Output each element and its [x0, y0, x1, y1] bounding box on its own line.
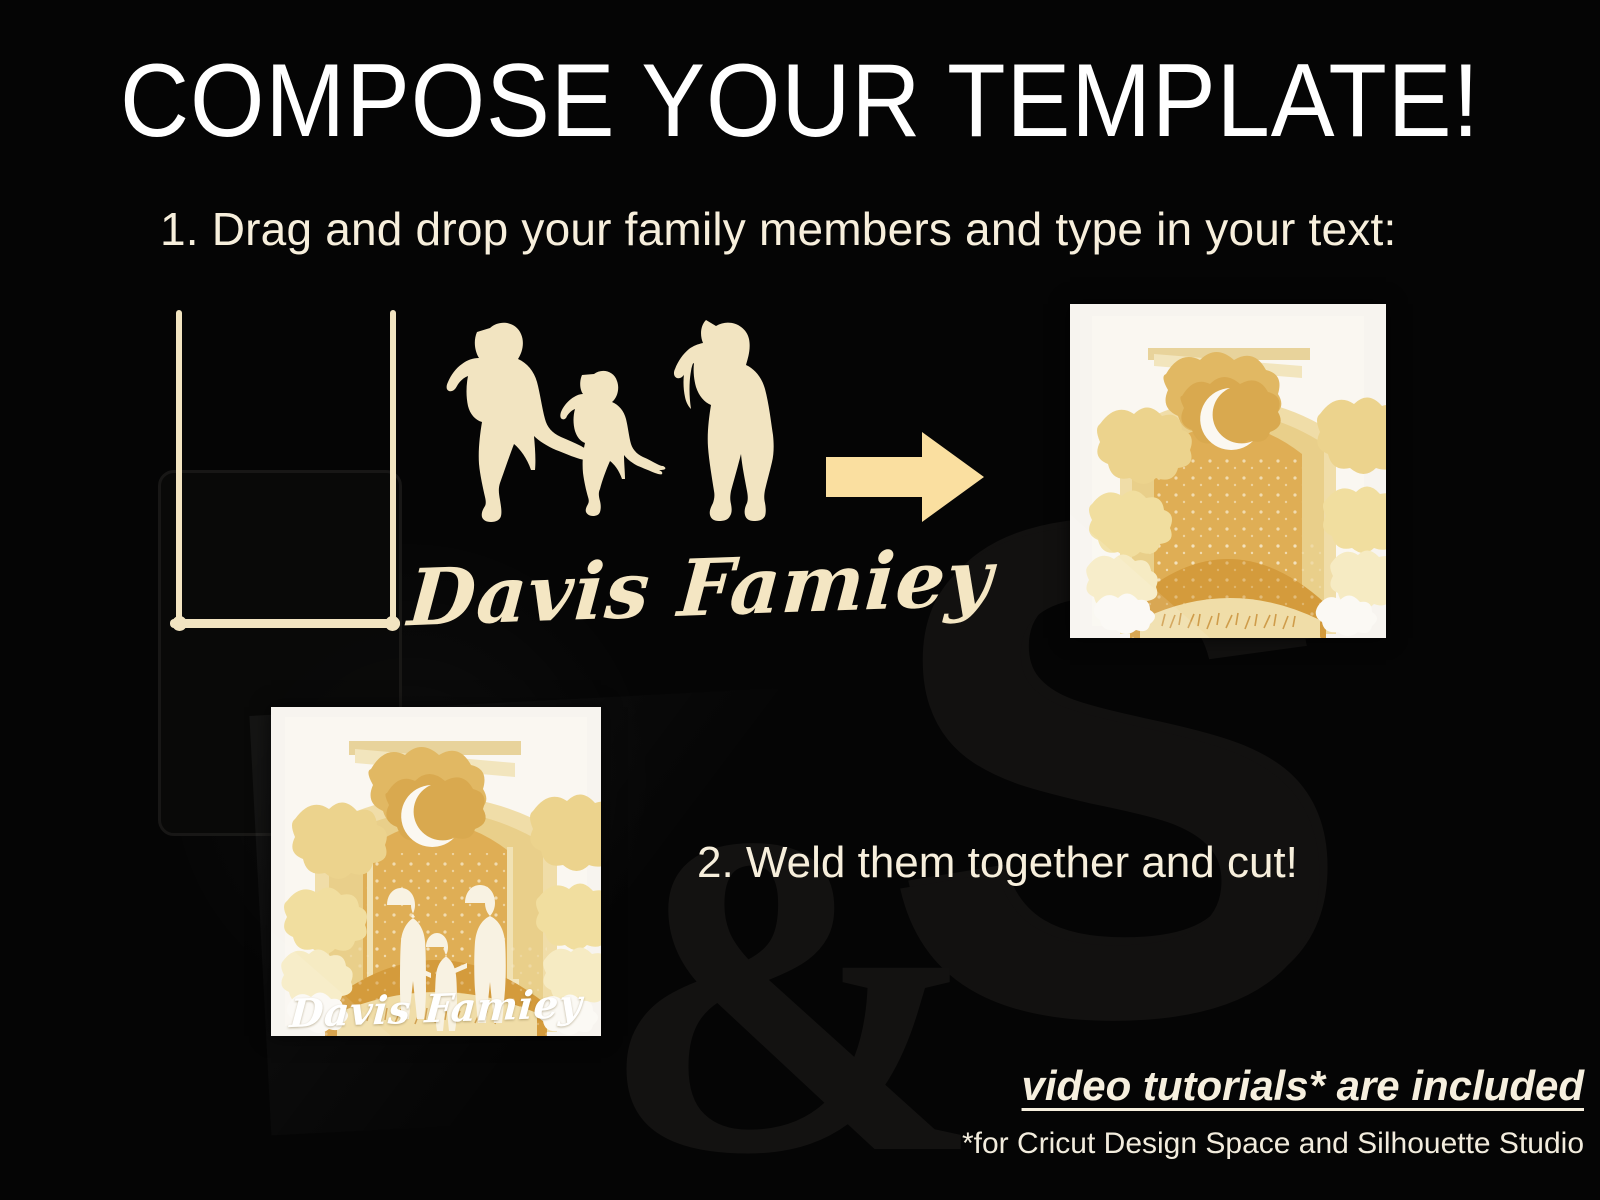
- page-title: COMPOSE YOUR TEMPLATE!: [64, 42, 1536, 161]
- step-2-caption: 2. Weld them together and cut!: [697, 838, 1298, 888]
- mother-silhouette: [674, 320, 774, 521]
- software-footnote: *for Cricut Design Space and Silhouette …: [962, 1127, 1584, 1161]
- slide-canvas: S S & COMPOSE YOUR TEMPLATE! 1. Drag and…: [0, 0, 1600, 1200]
- swing-outline: [170, 310, 400, 632]
- papercut-art-top: [1070, 304, 1386, 638]
- video-tutorials-note: video tutorials* are included: [1022, 1062, 1584, 1110]
- swing-knot-right: [385, 616, 400, 631]
- child-silhouette: [560, 371, 665, 516]
- swing-rope-left: [176, 310, 182, 620]
- final-composed-papercut: Davis Famiey: [271, 707, 601, 1036]
- swing-knot-left: [172, 616, 187, 631]
- family-name-text[interactable]: Davis Famiey: [405, 533, 996, 645]
- layered-papercut-preview: [1070, 304, 1386, 638]
- family-silhouette-group[interactable]: [418, 308, 778, 560]
- father-silhouette: [447, 323, 595, 522]
- step-1-caption: 1. Drag and drop your family members and…: [160, 202, 1396, 256]
- swing-rope-right: [390, 310, 396, 620]
- right-arrow-icon: [826, 432, 984, 522]
- swing-seat: [170, 619, 400, 628]
